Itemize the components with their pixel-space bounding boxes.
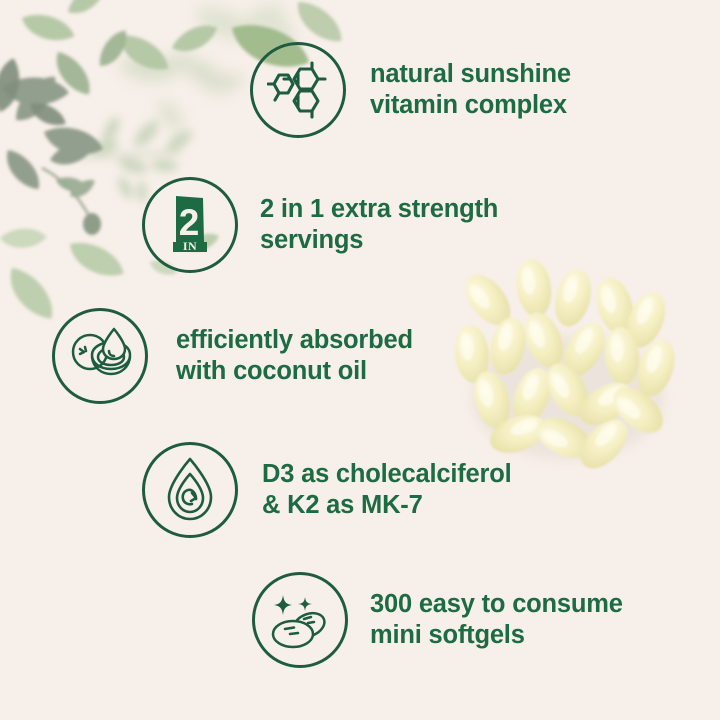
sparkling-softgels-icon [252, 572, 348, 668]
feature-label: 300 easy to consume mini softgels [370, 589, 623, 651]
product-feature-infographic: natural sunshine vitamin complex 2 IN 2 … [0, 0, 720, 720]
svg-text:IN: IN [183, 239, 197, 253]
feature-label: efficiently absorbed with coconut oil [176, 325, 413, 387]
coconut-oil-droplet-icon [52, 308, 148, 404]
feature-label: D3 as cholecalciferol & K2 as MK-7 [262, 459, 512, 521]
feature-row-d3-k2: D3 as cholecalciferol & K2 as MK-7 [142, 442, 512, 538]
feature-row-mini-softgels: 300 easy to consume mini softgels [252, 572, 623, 668]
feature-label: 2 in 1 extra strength servings [260, 194, 498, 256]
softgel-pile-image [440, 258, 690, 473]
spiral-droplet-icon [142, 442, 238, 538]
feature-row-coconut-oil: efficiently absorbed with coconut oil [52, 308, 413, 404]
feature-row-natural-sunshine: natural sunshine vitamin complex [250, 42, 571, 138]
feature-label: natural sunshine vitamin complex [370, 59, 571, 121]
molecule-hexagons-icon [250, 42, 346, 138]
two-in-one-badge-icon: 2 IN [142, 177, 238, 273]
feature-row-two-in-one: 2 IN 2 in 1 extra strength servings [142, 177, 498, 273]
svg-text:2: 2 [179, 202, 200, 243]
